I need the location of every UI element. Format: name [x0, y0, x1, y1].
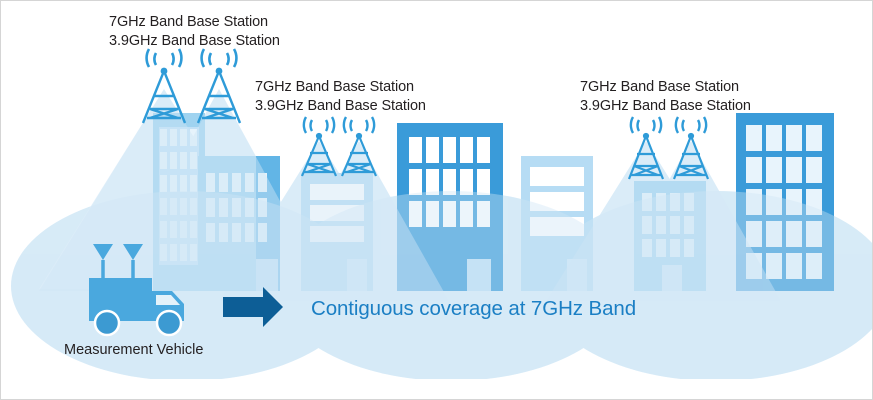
station-label-left: 7GHz Band Base Station 3.9GHz Band Base … [109, 13, 280, 51]
diagram-canvas: 7GHz Band Base Station 3.9GHz Band Base … [0, 0, 873, 400]
station-label-left-line1: 7GHz Band Base Station [109, 13, 280, 32]
station-label-right: 7GHz Band Base Station 3.9GHz Band Base … [580, 78, 751, 116]
station-label-center-line2: 3.9GHz Band Base Station [255, 97, 426, 116]
measurement-vehicle-caption: Measurement Vehicle [64, 342, 203, 358]
station-label-center-line1: 7GHz Band Base Station [255, 78, 426, 97]
station-label-left-line2: 3.9GHz Band Base Station [109, 32, 280, 51]
station-label-center: 7GHz Band Base Station 3.9GHz Band Base … [255, 78, 426, 116]
station-label-right-line1: 7GHz Band Base Station [580, 78, 751, 97]
coverage-caption: Contiguous coverage at 7GHz Band [311, 297, 636, 321]
diagram-illustration [1, 1, 873, 400]
station-label-right-line2: 3.9GHz Band Base Station [580, 97, 751, 116]
